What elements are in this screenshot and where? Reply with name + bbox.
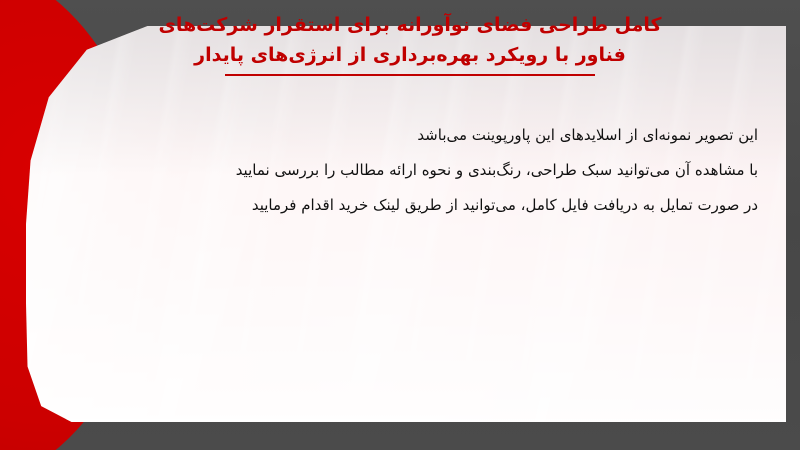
- slide-canvas: کامل طراحی فضای نوآورانه برای استقرار شر…: [0, 0, 800, 450]
- title-line-2: فناور با رویکرد بهره‌برداری از انرژی‌های…: [60, 40, 760, 70]
- title-line-1: کامل طراحی فضای نوآورانه برای استقرار شر…: [60, 10, 760, 40]
- body-line-3: در صورت تمایل به دریافت فایل کامل، می‌تو…: [60, 188, 758, 223]
- title-underline-rule: [225, 74, 595, 76]
- slide-title: کامل طراحی فضای نوآورانه برای استقرار شر…: [60, 10, 760, 76]
- panel-diagonal-bands: [26, 26, 786, 422]
- slide-content-panel: [26, 26, 786, 422]
- slide-body-text: این تصویر نمونه‌ای از اسلایدهای این پاور…: [60, 118, 758, 223]
- body-line-2: با مشاهده آن می‌توانید سبک طراحی، رنگ‌بن…: [60, 153, 758, 188]
- body-line-1: این تصویر نمونه‌ای از اسلایدهای این پاور…: [60, 118, 758, 153]
- panel-bottom-edge: [26, 419, 786, 422]
